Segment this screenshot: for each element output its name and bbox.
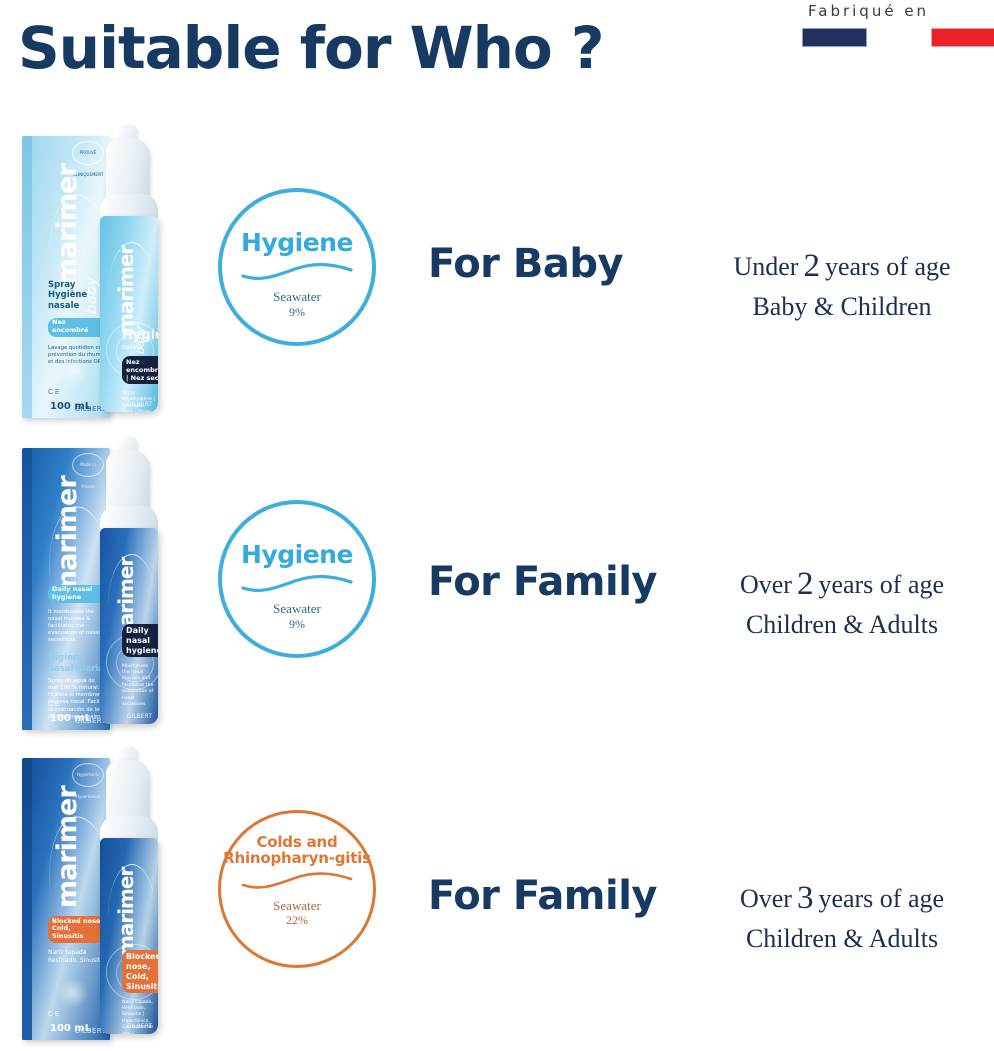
age-description-baby: Under2years of age Baby & Children	[690, 244, 994, 324]
badge-percent: 9%	[273, 305, 321, 319]
bottle-brand-name: marimer	[114, 868, 138, 956]
water-drop-graphic	[56, 668, 90, 702]
wave-icon	[241, 869, 353, 891]
badge-footer-label: Seawater	[273, 898, 321, 913]
badge-title: Hygiene	[241, 542, 353, 568]
french-flag-icon	[794, 28, 994, 47]
bottle-title-small: Spray	[122, 320, 155, 328]
bottle-body: marimer Blocked nose, Cold, Sinusitis Na…	[100, 838, 158, 1034]
brand-name: marimer	[52, 476, 83, 598]
carton-marks: CE	[48, 389, 62, 396]
bottle-maker: GILBERT	[127, 713, 152, 720]
age-number: 3	[792, 880, 819, 916]
bottle-family-hypertonic: marimer Blocked nose, Cold, Sinusitis Na…	[86, 746, 172, 1046]
bottle-title: Daily nasal hygiene	[122, 624, 158, 657]
carton-marks: CE	[48, 701, 62, 708]
badge-percent: 22%	[273, 913, 321, 927]
badge-footer: Seawater 9%	[273, 601, 321, 631]
age-line-2: Children & Adults	[690, 921, 994, 956]
badge-footer-label: Seawater	[273, 601, 321, 616]
bottle-maker: GILBERT	[127, 401, 152, 408]
product-row-baby: PROUVÉ CLINIQUEMENT marimer baby Spray H…	[0, 118, 994, 429]
bottle-pill: Nez encombré | Nez sec	[122, 356, 158, 383]
age-suffix: years of age	[818, 570, 944, 599]
product-image-family-hypertonic: Hypertonic Hypertónico marimer Blocked n…	[8, 746, 198, 1046]
brand-name: marimer	[52, 164, 83, 286]
badge-percent: 9%	[273, 617, 321, 631]
product-row-family-hypertonic: Hypertonic Hypertónico marimer Blocked n…	[0, 740, 994, 1051]
bottle-body: marimer baby Spray Hygiène nasale Nez en…	[100, 216, 158, 412]
bottle-title-sub: nasale	[122, 344, 155, 352]
badge-title: Hygiene	[241, 230, 353, 256]
wave-icon	[241, 260, 353, 282]
age-number: 2	[798, 248, 825, 284]
age-line-2: Children & Adults	[690, 607, 994, 642]
flag-band-blue	[802, 28, 867, 47]
bottle-micro-text: Moisturises the nasal mucosa and facilit…	[122, 664, 155, 709]
age-line-1: Over2years of age	[690, 562, 994, 607]
page-title: Suitable for Who ?	[18, 14, 604, 82]
bottle-baby: marimer baby Spray Hygiène nasale Nez en…	[86, 124, 172, 424]
age-description-family-hypertonic: Over3years of age Children & Adults	[690, 876, 994, 956]
badge-footer: Seawater 22%	[273, 898, 321, 928]
age-line-2: Baby & Children	[690, 289, 994, 324]
age-line-1: Under2years of age	[690, 244, 994, 289]
bottle-title: Blocked nose, Cold, Sinusitis	[122, 950, 158, 993]
age-suffix: years of age	[825, 252, 951, 281]
badge-footer: Seawater 9%	[273, 289, 321, 319]
flag-band-red	[931, 28, 994, 47]
flag-band-white	[867, 28, 932, 47]
badge-title: Colds and Rhinopharyn-gitis	[221, 835, 373, 867]
audience-label-baby: For Baby	[428, 241, 623, 287]
age-description-family-daily: Over2years of age Children & Adults	[690, 562, 994, 642]
age-suffix: years of age	[818, 884, 944, 913]
age-prefix: Under	[733, 252, 798, 281]
bottle-maker: GILBERT	[127, 1023, 152, 1030]
water-drop-graphic	[56, 978, 90, 1012]
made-in-france-badge: Fabriqué en	[794, 2, 994, 47]
audience-label-family-daily: For Family	[428, 559, 657, 605]
product-image-family-daily: Made in France marimer Daily nasal hygie…	[8, 436, 198, 736]
age-prefix: Over	[740, 884, 792, 913]
carton-marks: CE	[48, 1011, 62, 1018]
wave-icon	[241, 572, 353, 594]
water-drop-graphic	[56, 356, 90, 390]
brand-name: marimer	[52, 786, 83, 908]
badge-footer-label: Seawater	[273, 289, 321, 304]
audience-label-family-hypertonic: For Family	[428, 873, 657, 919]
bottle-body: marimer Daily nasal hygiene Moisturises …	[100, 528, 158, 724]
age-prefix: Over	[740, 570, 792, 599]
product-row-family-daily: Made in France marimer Daily nasal hygie…	[0, 430, 994, 741]
bottle-title: Hygiène	[122, 328, 155, 344]
bottle-family-daily: marimer Daily nasal hygiene Moisturises …	[86, 436, 172, 736]
badge-hygiene-family: Hygiene Seawater 9%	[218, 500, 376, 658]
age-line-1: Over3years of age	[690, 876, 994, 921]
badge-hygiene-baby: Hygiene Seawater 9%	[218, 188, 376, 346]
age-number: 2	[792, 566, 819, 602]
badge-colds-rhinopharyngitis: Colds and Rhinopharyn-gitis Seawater 22%	[218, 810, 376, 968]
product-image-baby: PROUVÉ CLINIQUEMENT marimer baby Spray H…	[8, 124, 198, 424]
made-in-label: Fabriqué en	[794, 2, 994, 20]
